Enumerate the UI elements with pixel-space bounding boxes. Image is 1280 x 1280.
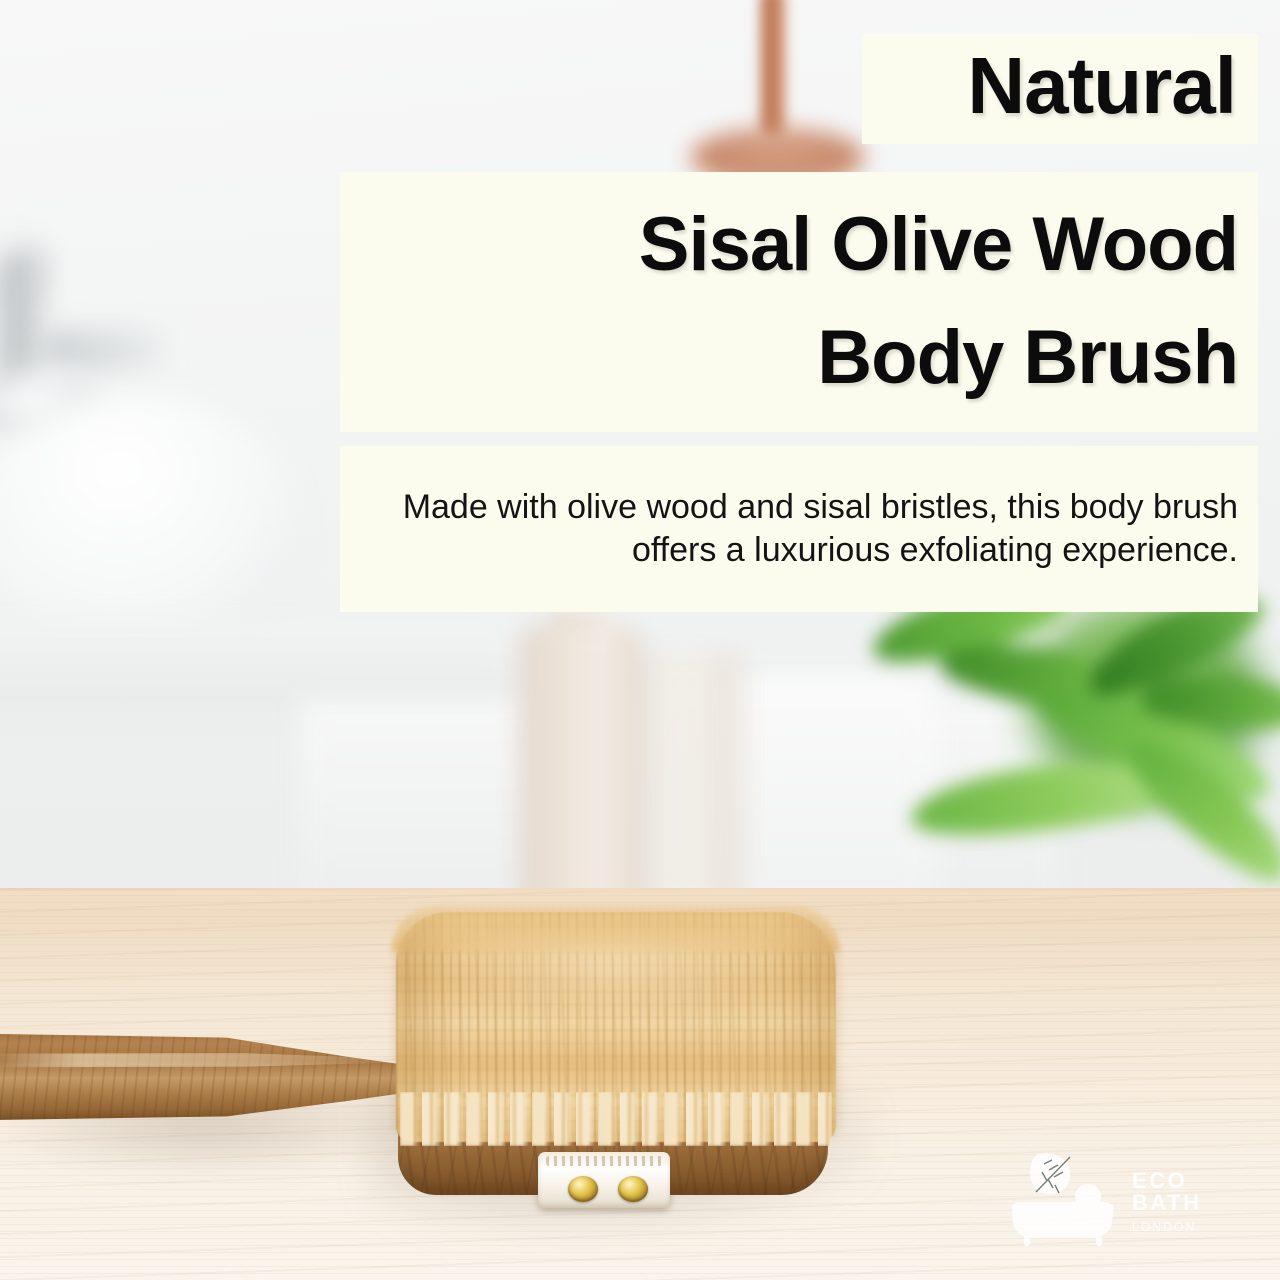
brass-rivet bbox=[618, 1176, 648, 1202]
title-panel: Sisal Olive Wood Body Brush bbox=[340, 172, 1258, 432]
counter-blur bbox=[0, 620, 520, 710]
beige-bottle-blur bbox=[520, 628, 640, 900]
table-front-edge bbox=[0, 888, 1280, 891]
page-title-line-1: Sisal Olive Wood bbox=[639, 202, 1238, 289]
bristle-highlight bbox=[430, 936, 800, 1010]
brand-wordmark: ECO BATH LONDON bbox=[1132, 1170, 1252, 1233]
brand-logo: ECO BATH LONDON bbox=[1000, 1148, 1252, 1254]
brand-location: LONDON bbox=[1132, 1221, 1252, 1233]
bathtub-leaf-icon bbox=[1000, 1148, 1130, 1248]
product-marketing-image: Natural Sisal Olive Wood Body Brush Made… bbox=[0, 0, 1280, 1280]
eyebrow-text: Natural bbox=[967, 46, 1236, 126]
product-description: Made with olive wood and sisal bristles,… bbox=[364, 486, 1238, 572]
brand-name: ECO BATH bbox=[1132, 1170, 1252, 1214]
description-panel: Made with olive wood and sisal bristles,… bbox=[340, 446, 1258, 612]
strap-stitching bbox=[546, 1156, 662, 1166]
bristle-front-tips bbox=[400, 1092, 832, 1146]
brass-rivet bbox=[568, 1176, 598, 1202]
hanging-brush-stem-blur bbox=[760, 0, 786, 138]
houseplant-blur bbox=[880, 580, 1280, 900]
faucet-spout-blur bbox=[40, 330, 170, 370]
eyebrow-panel: Natural bbox=[862, 34, 1258, 144]
page-title-line-2: Body Brush bbox=[817, 315, 1238, 402]
